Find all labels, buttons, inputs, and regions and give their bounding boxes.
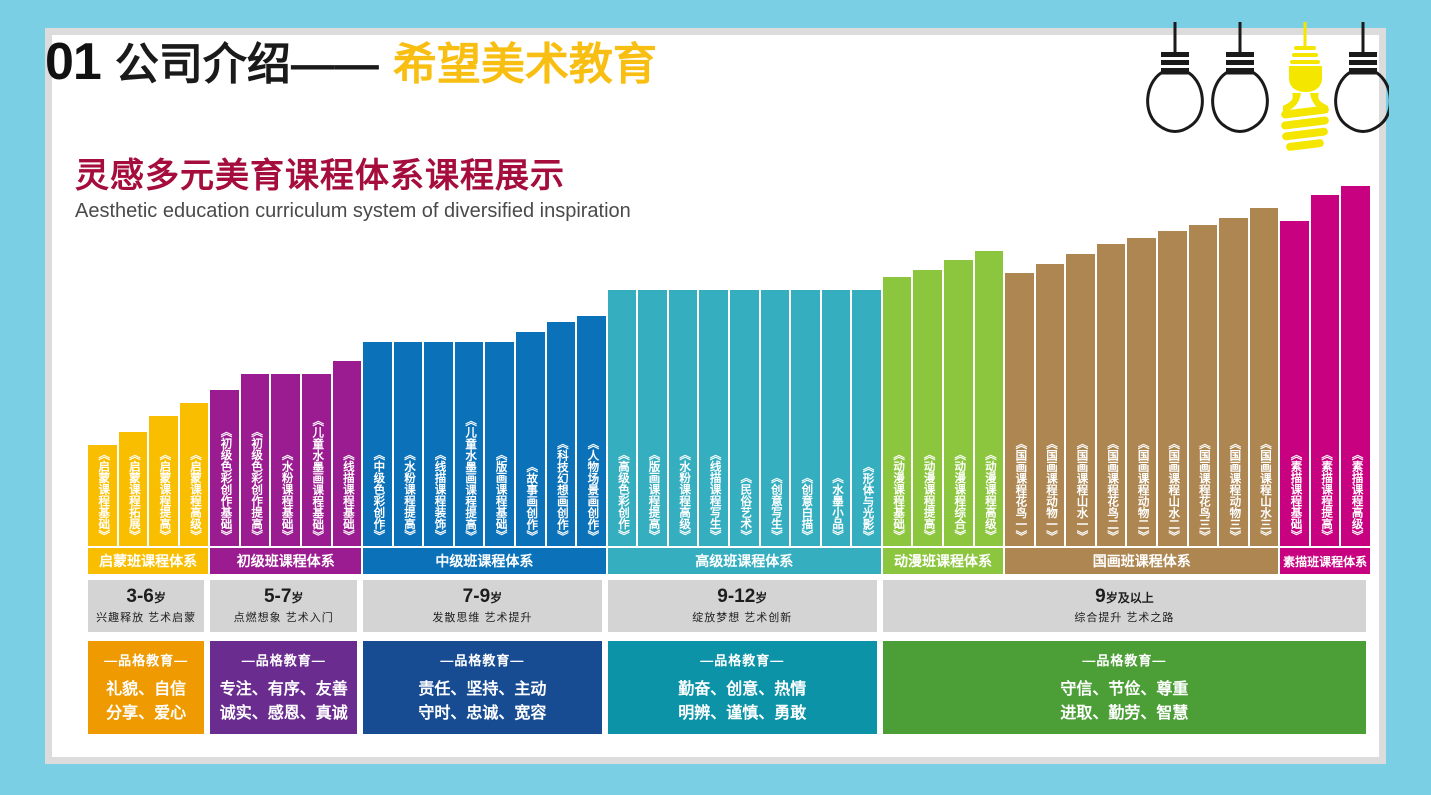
chart-bar-label: 《动漫课程高级》 <box>983 449 995 546</box>
chart-bar-label: 《线描课程装饰》 <box>433 449 445 546</box>
chart-bar-label: 《水粉课程基础》 <box>280 449 292 546</box>
chart-bar: 《儿童水墨画课程提高》 <box>455 342 484 546</box>
age-description: 发散思维 艺术提升 <box>432 609 532 625</box>
chart-bar: 《水粉课程高级》 <box>669 290 698 546</box>
page-header: 01 公司介绍—— 希望美术教育 <box>45 28 805 108</box>
character-education-line-2: 守时、忠诚、宽容 <box>418 702 546 725</box>
age-band[interactable]: 9岁及以上综合提升 艺术之路 <box>883 580 1366 632</box>
section-number: 01 <box>45 32 101 92</box>
chart-bar: 《民俗艺术》 <box>730 290 759 546</box>
chart-bar: 《版画课程基础》 <box>485 342 514 546</box>
character-education-line-2: 诚实、感恩、真诚 <box>220 702 348 725</box>
chart-bar-label: 《国画课程山水三》 <box>1258 438 1270 547</box>
age-range: 9岁及以上 <box>1095 587 1154 607</box>
chart-bar-label: 《线描课程基础》 <box>341 449 353 546</box>
category-band-label: 国画班课程体系 <box>1093 551 1191 571</box>
chart-bar-label: 《儿童水墨画课程基础》 <box>310 415 322 547</box>
chart-bar: 《创意写生》 <box>761 290 790 546</box>
character-education-card[interactable]: —品格教育—专注、有序、友善诚实、感恩、真诚 <box>210 641 357 734</box>
chart-bar: 《水粉课程基础》 <box>271 374 300 546</box>
category-band-label: 素描班课程体系 <box>1283 553 1367 570</box>
chart-bar: 《水粉课程提高》 <box>394 342 423 546</box>
age-band[interactable]: 9-12岁绽放梦想 艺术创新 <box>608 580 877 632</box>
lightbulbs-svg <box>1139 22 1389 162</box>
character-education-line-1: 责任、坚持、主动 <box>418 678 546 701</box>
chart-bar: 《国画课程动物二》 <box>1127 238 1156 546</box>
chart-bar: 《启蒙课程拓展》 <box>119 432 148 546</box>
chart-bar-label: 《创意白描》 <box>799 472 811 546</box>
chart-bar-label: 《国画课程花鸟三》 <box>1197 438 1209 547</box>
chart-bar: 《国画课程花鸟一》 <box>1005 273 1034 546</box>
chart-bar-label: 《初级色彩创作提高》 <box>249 426 261 546</box>
chart-bar-label: 《动漫课程综合》 <box>952 449 964 546</box>
page-title: 公司介绍—— <box>115 28 379 92</box>
chart-bar: 《创意白描》 <box>791 290 820 546</box>
category-band[interactable]: 国画班课程体系 <box>1005 548 1278 574</box>
character-education-line-2: 进取、勤劳、智慧 <box>1060 702 1188 725</box>
category-band[interactable]: 动漫班课程体系 <box>883 548 1003 574</box>
chart-bar: 《故事画创作》 <box>516 332 545 546</box>
age-band[interactable]: 7-9岁发散思维 艺术提升 <box>363 580 602 632</box>
chart-bar-label: 《启蒙课程拓展》 <box>127 449 139 546</box>
lightbulb-icon-2 <box>1213 22 1268 132</box>
chart-bar: 《启蒙课程提高》 <box>149 416 178 546</box>
character-education-title: —品格教育— <box>1082 650 1166 669</box>
age-range: 9-12岁 <box>717 587 767 607</box>
character-education-line-1: 礼貌、自信 <box>106 678 186 701</box>
chart-bar: 《国画课程动物三》 <box>1219 218 1248 546</box>
age-range-suffix: 岁及以上 <box>1106 591 1154 605</box>
lightbulb-decoration <box>1139 22 1389 162</box>
chart-bar-label: 《科技幻想画创作》 <box>555 438 567 547</box>
age-range: 7-9岁 <box>463 587 502 607</box>
chart-bar: 《国画课程花鸟二》 <box>1097 244 1126 546</box>
chart-bar-label: 《启蒙课程高级》 <box>188 449 200 546</box>
chart-bar: 《动漫课程综合》 <box>944 260 973 546</box>
chart-bar-label: 《国画课程花鸟一》 <box>1013 438 1025 547</box>
chart-bar-label: 《启蒙课程提高》 <box>157 449 169 546</box>
chart-bar-label: 《故事画创作》 <box>524 461 536 547</box>
age-range-suffix: 岁 <box>154 591 166 605</box>
chart-bar: 《启蒙课程基础》 <box>88 445 117 546</box>
chart-bar: 《国画课程山水三》 <box>1250 208 1279 546</box>
age-range-suffix: 岁 <box>291 591 303 605</box>
character-education-line-2: 明辨、谨慎、勇敢 <box>678 702 806 725</box>
chart-bar: 《初级色彩创作提高》 <box>241 374 270 546</box>
chart-bar-label: 《启蒙课程基础》 <box>96 449 108 546</box>
character-education-card[interactable]: —品格教育—守信、节俭、尊重进取、勤劳、智慧 <box>883 641 1366 734</box>
age-range-suffix: 岁 <box>755 591 767 605</box>
chart-bar-label: 《素描课程高级》 <box>1350 449 1362 546</box>
chart-bar: 《国画课程山水二》 <box>1158 231 1187 546</box>
chart-bar: 《形体与光影》 <box>852 290 881 546</box>
chart-bar-label: 《国画课程动物一》 <box>1044 438 1056 547</box>
lightbulb-icon-4 <box>1336 22 1389 132</box>
chart-bar: 《动漫课程基础》 <box>883 277 912 546</box>
chart-bar-label: 《国画课程动物二》 <box>1136 438 1148 547</box>
age-range: 5-7岁 <box>264 587 303 607</box>
chart-bar: 《国画课程动物一》 <box>1036 264 1065 546</box>
age-range-suffix: 岁 <box>490 591 502 605</box>
category-band[interactable]: 初级班课程体系 <box>210 548 361 574</box>
chart-bar: 《初级色彩创作基础》 <box>210 390 239 546</box>
chart-bar-label: 《动漫课程基础》 <box>891 449 903 546</box>
age-band[interactable]: 3-6岁兴趣释放 艺术启蒙 <box>88 580 204 632</box>
category-band-label: 中级班课程体系 <box>435 551 533 571</box>
age-description: 绽放梦想 艺术创新 <box>692 609 792 625</box>
age-description: 点燃想象 艺术入门 <box>234 609 334 625</box>
character-education-title: —品格教育— <box>700 650 784 669</box>
character-education-line-2: 分享、爱心 <box>106 702 186 725</box>
character-education-line-1: 守信、节俭、尊重 <box>1060 678 1188 701</box>
category-band-label: 初级班课程体系 <box>237 551 335 571</box>
chart-bar-label: 《国画课程山水一》 <box>1075 438 1087 547</box>
chart-bar-label: 《国画课程花鸟二》 <box>1105 438 1117 547</box>
chart-bar: 《线描课程写生》 <box>699 290 728 546</box>
course-bar-chart: 《启蒙课程基础》《启蒙课程拓展》《启蒙课程提高》《启蒙课程高级》《初级色彩创作基… <box>88 163 1370 546</box>
chart-bar: 《国画课程山水一》 <box>1066 254 1095 546</box>
chart-bar-label: 《民俗艺术》 <box>738 472 750 546</box>
age-range: 3-6岁 <box>126 587 165 607</box>
chart-bar: 《版画课程提高》 <box>638 290 667 546</box>
chart-bar-label: 《素描课程提高》 <box>1319 449 1331 546</box>
chart-bar: 《线描课程基础》 <box>333 361 362 546</box>
chart-bar-label: 《儿童水墨画课程提高》 <box>463 415 475 547</box>
chart-bar: 《国画课程花鸟三》 <box>1189 225 1218 546</box>
character-education-card[interactable]: —品格教育—勤奋、创意、热情明辨、谨慎、勇敢 <box>608 641 877 734</box>
chart-bar: 《科技幻想画创作》 <box>547 322 576 546</box>
chart-bar-label: 《创意写生》 <box>769 472 781 546</box>
chart-bar-label: 《中级色彩创作》 <box>371 449 383 546</box>
category-band-row: 启蒙班课程体系初级班课程体系中级班课程体系高级班课程体系动漫班课程体系国画班课程… <box>88 548 1370 574</box>
chart-bar-label: 《国画课程山水二》 <box>1166 438 1178 547</box>
chart-bar: 《人物场景画创作》 <box>577 316 606 546</box>
character-education-title: —品格教育— <box>242 650 326 669</box>
chart-bar: 《动漫课程高级》 <box>975 251 1004 546</box>
category-band-label: 启蒙班课程体系 <box>99 551 197 571</box>
chart-bar: 《线描课程装饰》 <box>424 342 453 546</box>
chart-bar-label: 《高级色彩创作》 <box>616 449 628 546</box>
chart-bar-label: 《形体与光影》 <box>861 461 873 547</box>
category-band[interactable]: 启蒙班课程体系 <box>88 548 208 574</box>
character-education-card[interactable]: —品格教育—责任、坚持、主动守时、忠诚、宽容 <box>363 641 602 734</box>
age-description: 综合提升 艺术之路 <box>1074 609 1174 625</box>
character-education-line-1: 勤奋、创意、热情 <box>678 678 806 701</box>
category-band[interactable]: 素描班课程体系 <box>1280 548 1370 574</box>
lightbulb-icon-1 <box>1148 22 1203 132</box>
category-band[interactable]: 高级班课程体系 <box>608 548 881 574</box>
character-education-line-1: 专注、有序、友善 <box>220 678 348 701</box>
chart-bar: 《儿童水墨画课程基础》 <box>302 374 331 546</box>
chart-bar-label: 《初级色彩创作基础》 <box>219 426 231 546</box>
age-band[interactable]: 5-7岁点燃想象 艺术入门 <box>210 580 357 632</box>
chart-bar: 《中级色彩创作》 <box>363 342 392 546</box>
category-band-label: 高级班课程体系 <box>695 551 793 571</box>
age-band-row: 3-6岁兴趣释放 艺术启蒙5-7岁点燃想象 艺术入门7-9岁发散思维 艺术提升9… <box>88 580 1370 632</box>
chart-bar: 《水墨小品》 <box>822 290 851 546</box>
character-education-card[interactable]: —品格教育—礼貌、自信分享、爱心 <box>88 641 204 734</box>
chart-bar-label: 《水粉课程高级》 <box>677 449 689 546</box>
chart-bar-label: 《版画课程基础》 <box>494 449 506 546</box>
page-title-accent: 希望美术教育 <box>393 28 657 92</box>
chart-bar-label: 《人物场景画创作》 <box>585 438 597 547</box>
chart-bar-label: 《水墨小品》 <box>830 472 842 546</box>
chart-bar-label: 《水粉课程提高》 <box>402 449 414 546</box>
chart-bar-label: 《线描课程写生》 <box>708 449 720 546</box>
chart-bar: 《动漫课程提高》 <box>913 270 942 546</box>
chart-bar: 《素描课程提高》 <box>1311 195 1340 546</box>
character-education-title: —品格教育— <box>104 650 188 669</box>
category-band-label: 动漫班课程体系 <box>894 551 992 571</box>
chart-bar: 《素描课程高级》 <box>1341 186 1370 546</box>
lightbulb-icon-3-lit <box>1281 22 1330 151</box>
chart-bar-label: 《国画课程动物三》 <box>1227 438 1239 547</box>
chart-bar-label: 《素描课程基础》 <box>1289 449 1301 546</box>
character-education-title: —品格教育— <box>440 650 524 669</box>
chart-bar-label: 《动漫课程提高》 <box>922 449 934 546</box>
category-band[interactable]: 中级班课程体系 <box>363 548 606 574</box>
chart-bar: 《素描课程基础》 <box>1280 221 1309 546</box>
chart-bar: 《启蒙课程高级》 <box>180 403 209 546</box>
age-description: 兴趣释放 艺术启蒙 <box>96 609 196 625</box>
character-education-row: —品格教育—礼貌、自信分享、爱心—品格教育—专注、有序、友善诚实、感恩、真诚—品… <box>88 641 1370 734</box>
chart-bar-label: 《版画课程提高》 <box>647 449 659 546</box>
chart-bar: 《高级色彩创作》 <box>608 290 637 546</box>
